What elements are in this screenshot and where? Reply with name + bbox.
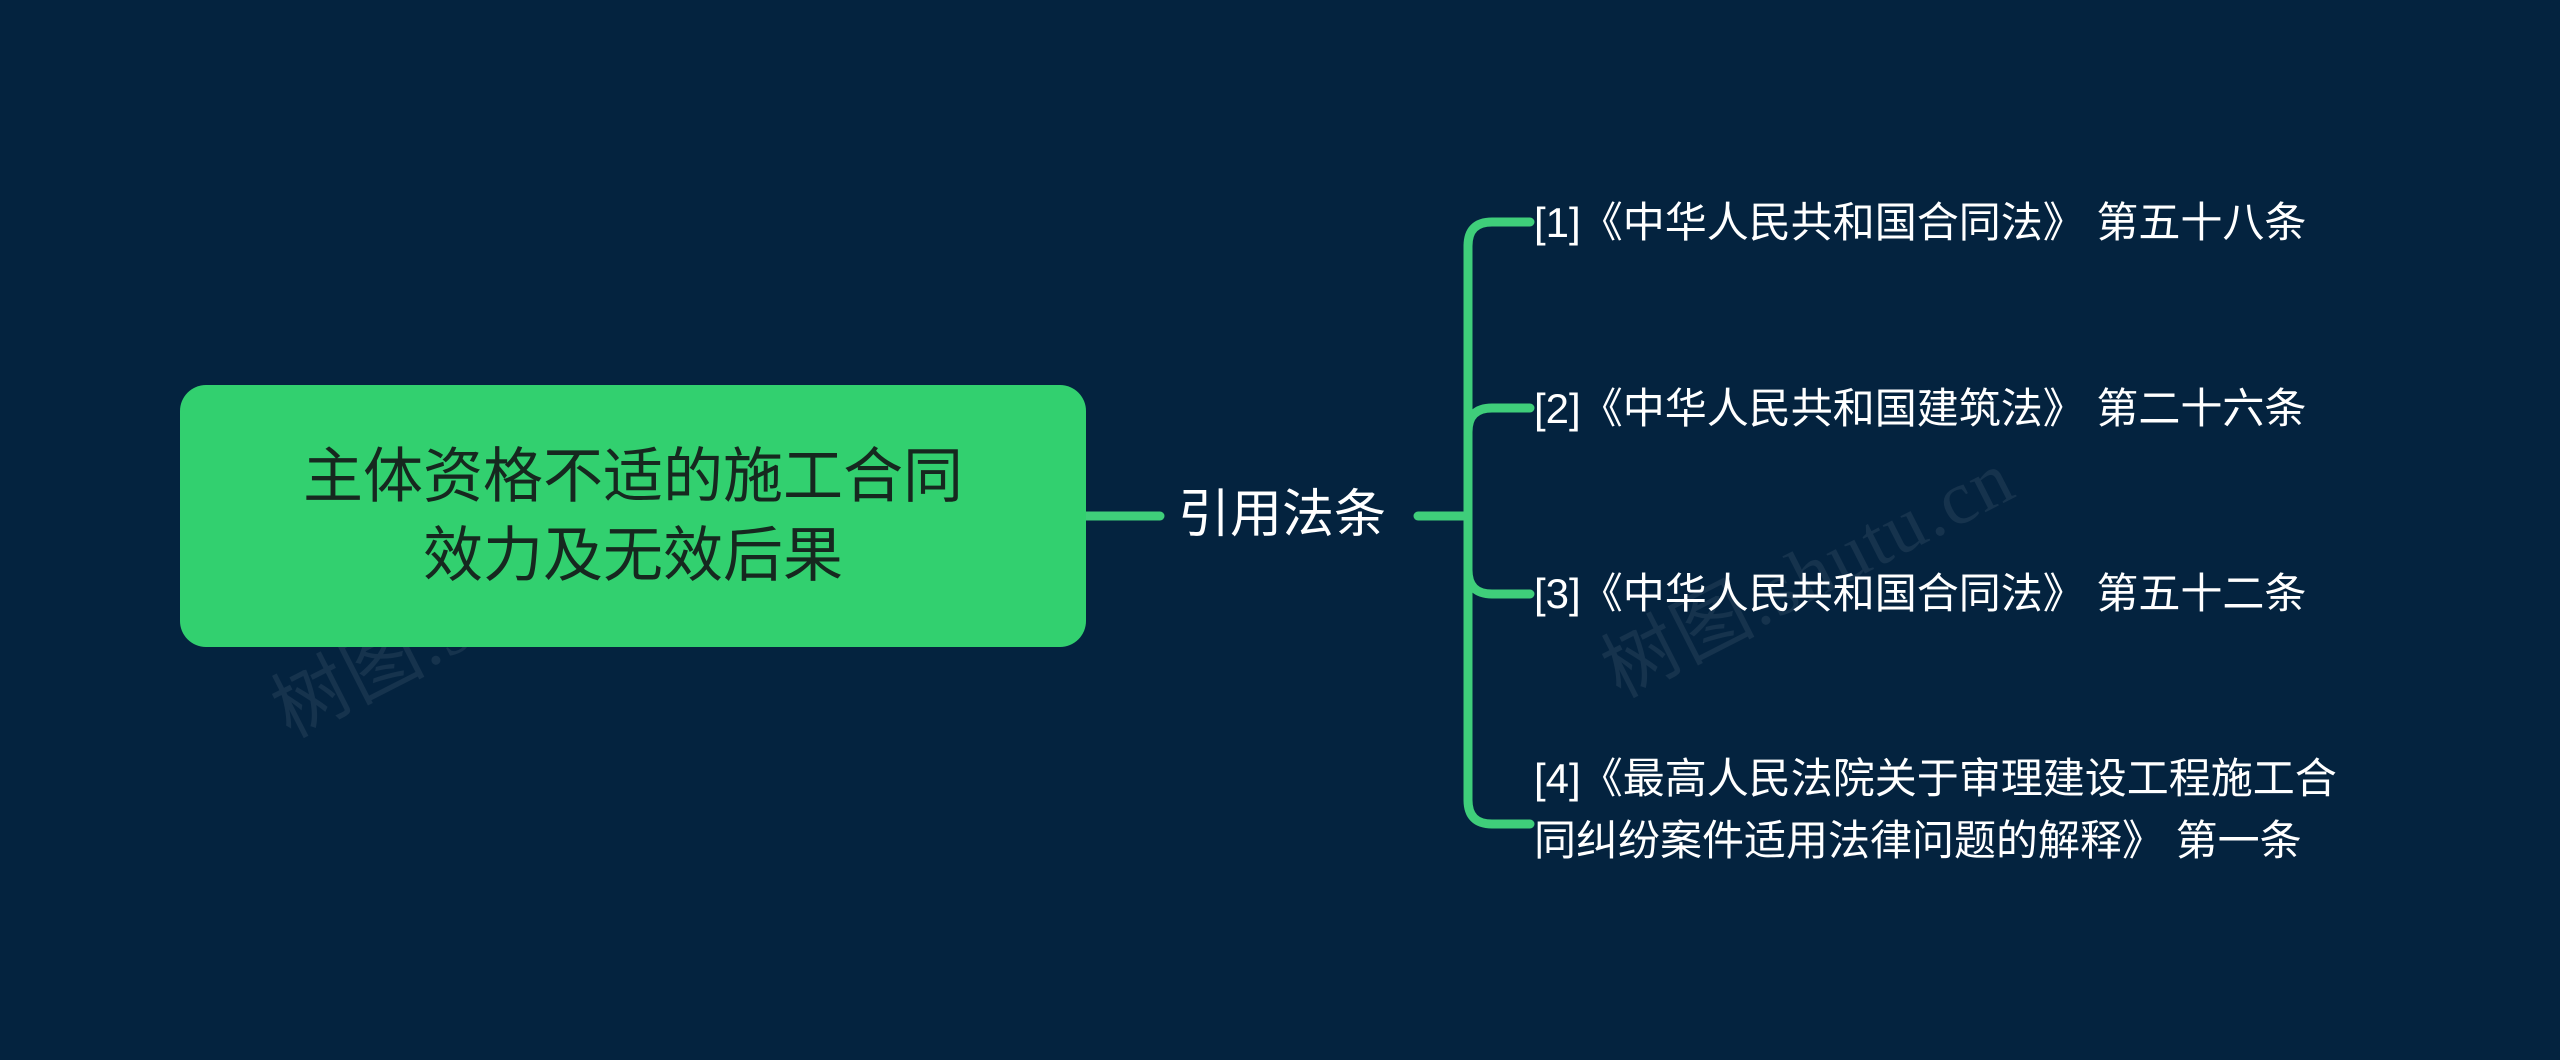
connector-trunk-to-leaf-3 (1468, 570, 1530, 594)
mindmap-canvas: 树图.shutu.cn 树图.shutu.cn 主体资格不适的施工合同 效力及无… (0, 0, 2560, 1060)
leaf-node-4[interactable]: [4]《最高人民法院关于审理建设工程施工合 同纠纷案件适用法律问题的解释》 第一… (1534, 748, 2374, 872)
root-node[interactable]: 主体资格不适的施工合同 效力及无效后果 (180, 385, 1086, 647)
connector-trunk-to-leaf-1 (1468, 222, 1530, 246)
leaf-node-3[interactable]: [3]《中华人民共和国合同法》 第五十二条 (1534, 563, 2306, 625)
leaf-node-2[interactable]: [2]《中华人民共和国建筑法》 第二十六条 (1534, 378, 2306, 440)
leaf-node-1[interactable]: [1]《中华人民共和国合同法》 第五十八条 (1534, 192, 2306, 254)
root-node-label: 主体资格不适的施工合同 效力及无效后果 (303, 437, 963, 595)
connector-trunk-to-leaf-2 (1468, 408, 1530, 432)
connector-trunk-to-leaf-4 (1468, 800, 1530, 824)
branch-node-citations[interactable]: 引用法条 (1178, 480, 1386, 550)
